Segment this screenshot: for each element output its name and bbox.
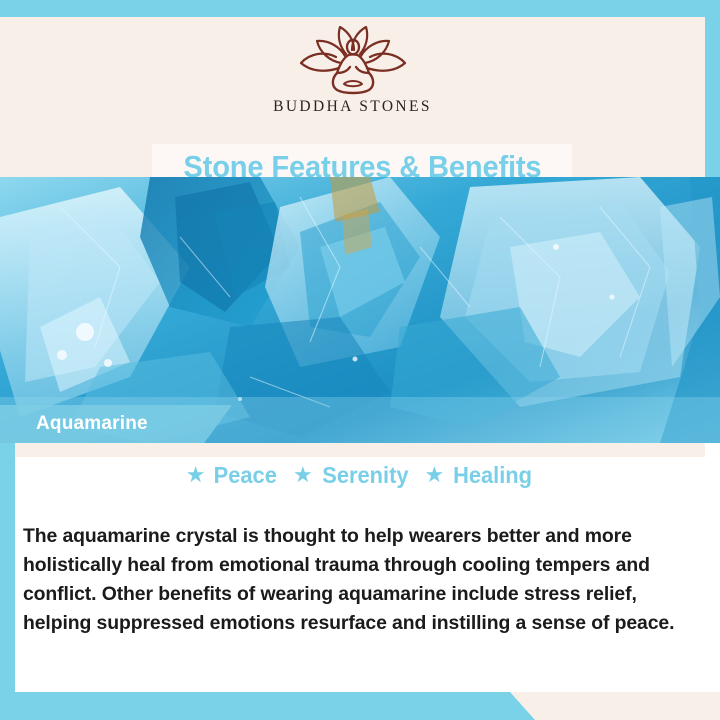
hero-image — [0, 177, 720, 443]
left-blue-border — [0, 443, 15, 693]
aquamarine-crystal-photo — [0, 177, 720, 443]
star-icon: ★ — [293, 464, 313, 486]
cream-divider-strip — [15, 443, 705, 457]
bottom-blue-band — [0, 692, 540, 720]
star-icon: ★ — [186, 464, 206, 486]
star-icon: ★ — [424, 464, 444, 486]
stone-features-poster: BUDDHA STONES Stone Features & Benefits — [0, 0, 720, 720]
brand-logo: BUDDHA STONES — [0, 23, 705, 115]
lotus-meditation-icon — [292, 23, 414, 97]
benefit-item-healing: ★ Healing — [424, 462, 534, 489]
benefit-label: Peace — [214, 462, 277, 489]
bottom-cream-strip — [510, 692, 720, 720]
right-blue-border — [704, 0, 720, 182]
stone-name-tag: Aquamarine — [0, 405, 232, 443]
top-blue-border — [0, 0, 720, 17]
brand-name: BUDDHA STONES — [273, 99, 432, 115]
benefit-item-peace: ★ Peace — [186, 462, 279, 489]
header-panel: BUDDHA STONES Stone Features & Benefits — [0, 17, 705, 177]
benefit-item-serenity: ★ Serenity — [293, 462, 411, 489]
benefit-label: Healing — [453, 462, 532, 489]
stone-name-label: Aquamarine — [36, 413, 148, 435]
benefit-label: Serenity — [322, 462, 408, 489]
benefits-row: ★ Peace ★ Serenity ★ Healing — [15, 462, 705, 489]
description-paragraph: The aquamarine crystal is thought to hel… — [23, 522, 685, 638]
